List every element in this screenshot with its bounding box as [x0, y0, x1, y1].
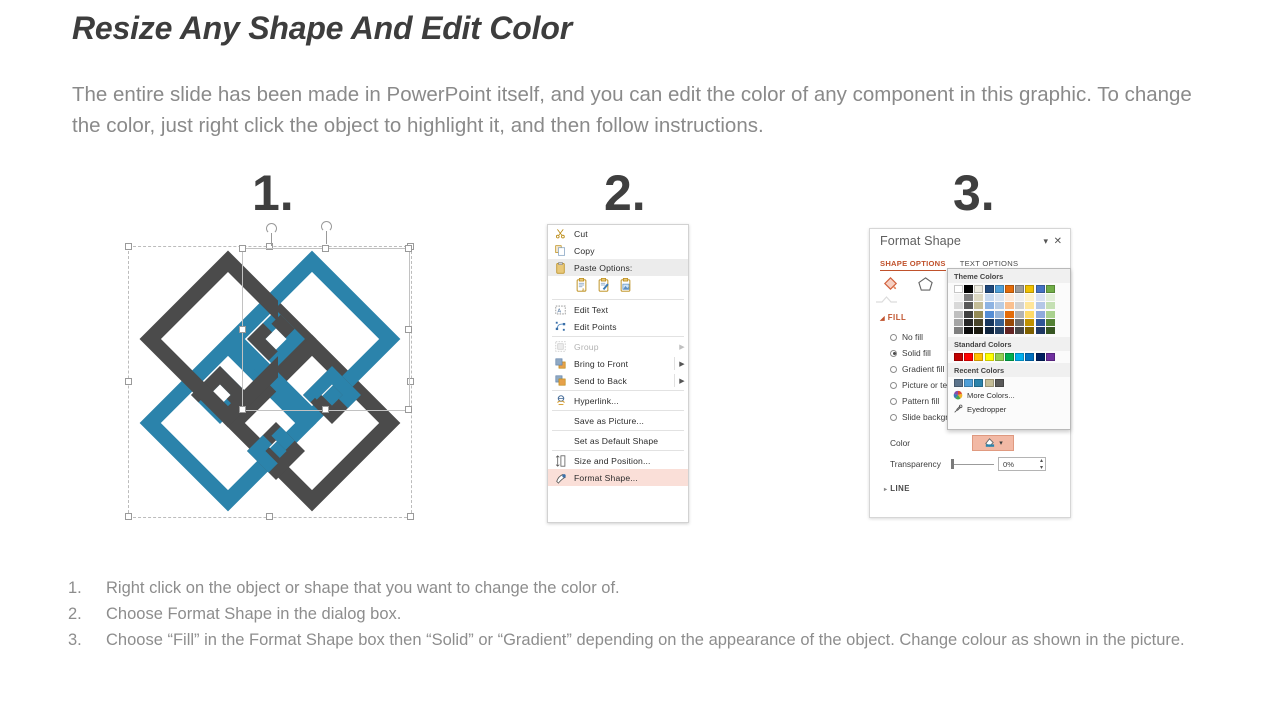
theme-color-tint-swatch[interactable]	[1036, 319, 1045, 326]
inner-handle-n[interactable]	[322, 245, 329, 252]
fill-color-row[interactable]: Color ▾	[890, 435, 1062, 451]
standard-color-swatch[interactable]	[1005, 353, 1014, 361]
group-icon	[551, 339, 570, 354]
transparency-spinner-arrows[interactable]: ▴ ▾	[1040, 458, 1043, 472]
instruction-text: Choose “Fill” in the Format Shape box th…	[106, 627, 1268, 653]
menu-vertical-separator-1	[674, 357, 675, 370]
step-number-1: 1.	[252, 168, 294, 218]
menu-item-cut[interactable]: Cut	[548, 225, 688, 242]
radio-dot-solid-fill	[890, 350, 897, 357]
theme-color-column-8[interactable]	[1025, 285, 1034, 334]
radio-dot-pattern-fill	[890, 398, 897, 405]
theme-color-tint-swatch[interactable]	[1015, 327, 1024, 334]
menu-item-edit-text[interactable]: A Edit Text	[548, 301, 688, 318]
instruction-number: 2.	[68, 601, 106, 627]
recent-colors-row[interactable]	[948, 377, 1070, 389]
theme-color-tint-swatch[interactable]	[1005, 302, 1014, 309]
menu-item-copy-label: Copy	[570, 246, 688, 256]
theme-color-column-9[interactable]	[1036, 285, 1045, 334]
paste-picture-icon[interactable]	[619, 278, 632, 294]
theme-color-tint-swatch[interactable]	[1025, 294, 1034, 301]
fill-expand-glyph: ◢	[880, 316, 885, 322]
step-number-2: 2.	[604, 168, 646, 218]
theme-color-tint-swatch[interactable]	[985, 319, 994, 326]
edit-points-icon	[551, 319, 570, 334]
theme-color-column-4[interactable]	[985, 285, 994, 334]
transparency-spinner[interactable]: 0% ▴ ▾	[998, 457, 1046, 471]
standard-color-swatch[interactable]	[995, 353, 1004, 361]
theme-color-swatch[interactable]	[1025, 285, 1034, 293]
handle-se[interactable]	[407, 513, 414, 520]
fill-section-label: FILL	[888, 313, 906, 322]
theme-color-tint-swatch[interactable]	[1005, 319, 1014, 326]
theme-color-tint-swatch[interactable]	[995, 294, 1004, 301]
paste-use-destination-theme-icon[interactable]	[597, 278, 610, 294]
more-colors-item[interactable]: More Colors...	[948, 389, 1070, 403]
theme-color-tint-swatch[interactable]	[1015, 311, 1024, 318]
theme-color-tint-swatch[interactable]	[995, 302, 1004, 309]
theme-color-column-10[interactable]	[1046, 285, 1055, 334]
instruction-number: 3.	[68, 627, 106, 653]
theme-colors-grid[interactable]	[948, 283, 1070, 334]
theme-colors-header: Theme Colors	[948, 269, 1070, 283]
bring-to-front-icon	[551, 356, 570, 371]
inner-handle-sw[interactable]	[239, 406, 246, 413]
handle-w[interactable]	[125, 378, 132, 385]
theme-color-tint-swatch[interactable]	[985, 311, 994, 318]
inner-handle-w[interactable]	[239, 326, 246, 333]
standard-color-swatch[interactable]	[985, 353, 994, 361]
transparency-row[interactable]: Transparency 0% ▴ ▾	[890, 457, 1068, 471]
standard-color-swatch[interactable]	[954, 353, 963, 361]
menu-separator-6	[552, 450, 684, 451]
theme-color-tint-swatch[interactable]	[985, 294, 994, 301]
size-position-icon	[551, 453, 570, 468]
eyedropper-icon	[953, 404, 963, 416]
fill-tab-indicator	[876, 295, 897, 302]
menu-item-hyperlink-label: Hyperlink...	[570, 396, 688, 406]
theme-color-tint-swatch[interactable]	[954, 319, 963, 326]
rotation-handle-outer[interactable]	[266, 223, 277, 234]
instruction-text: Right click on the object or shape that …	[106, 575, 1268, 601]
theme-color-tint-swatch[interactable]	[1005, 311, 1014, 318]
instruction-item: 1. Right click on the object or shape th…	[68, 575, 1268, 601]
menu-item-copy[interactable]: Copy	[548, 242, 688, 259]
theme-color-tint-swatch[interactable]	[1005, 294, 1014, 301]
menu-item-paste-options[interactable]: Paste Options:	[548, 259, 688, 276]
theme-color-swatch[interactable]	[1015, 285, 1024, 293]
page-subtitle: The entire slide has been made in PowerP…	[72, 79, 1217, 141]
theme-color-tint-swatch[interactable]	[1015, 319, 1024, 326]
standard-colors-row[interactable]	[948, 351, 1070, 363]
recent-color-swatch[interactable]	[954, 379, 963, 387]
transparency-value: 0%	[1003, 460, 1014, 469]
theme-color-tint-swatch[interactable]	[974, 294, 983, 301]
theme-color-column-2[interactable]	[964, 285, 973, 334]
paste-options-row[interactable]: a	[548, 276, 688, 298]
inner-handle-e[interactable]	[405, 326, 412, 333]
theme-color-tint-swatch[interactable]	[1005, 327, 1014, 334]
tab-shape-options[interactable]: SHAPE OPTIONS	[880, 259, 946, 271]
theme-color-swatch[interactable]	[995, 285, 1004, 293]
radio-label-no-fill: No fill	[902, 332, 923, 342]
theme-color-swatch[interactable]	[985, 285, 994, 293]
theme-color-column-6[interactable]	[1005, 285, 1014, 334]
step-number-3: 3.	[953, 168, 995, 218]
theme-color-tint-swatch[interactable]	[964, 311, 973, 318]
menu-item-size-and-position-label: Size and Position...	[570, 456, 688, 466]
theme-color-column-3[interactable]	[974, 285, 983, 334]
theme-color-tint-swatch[interactable]	[1025, 311, 1034, 318]
menu-separator-1	[552, 299, 684, 300]
theme-color-tint-swatch[interactable]	[1046, 319, 1055, 326]
theme-color-tint-swatch[interactable]	[1036, 311, 1045, 318]
standard-colors-header: Standard Colors	[948, 337, 1070, 351]
theme-color-tint-swatch[interactable]	[954, 311, 963, 318]
transparency-slider[interactable]	[950, 458, 998, 470]
menu-item-group[interactable]: Group ▶	[548, 338, 688, 355]
inner-handle-ne[interactable]	[405, 245, 412, 252]
format-shape-title: Format Shape	[880, 234, 961, 248]
rotation-handle-inner[interactable]	[321, 221, 332, 232]
rotation-stem-outer	[271, 233, 272, 246]
standard-color-swatch[interactable]	[964, 353, 973, 361]
recent-color-swatch[interactable]	[964, 379, 973, 387]
theme-color-tint-swatch[interactable]	[1046, 327, 1055, 334]
radio-label-pattern-fill: Pattern fill	[902, 396, 939, 406]
inner-handle-nw[interactable]	[239, 245, 246, 252]
theme-color-swatch[interactable]	[1005, 285, 1014, 293]
theme-color-tint-swatch[interactable]	[954, 294, 963, 301]
eyedropper-label: Eyedropper	[967, 405, 1006, 414]
hyperlink-icon	[551, 393, 570, 408]
menu-item-set-as-default-shape-label: Set as Default Shape	[570, 436, 688, 446]
menu-separator-2	[552, 336, 684, 337]
svg-text:A: A	[557, 308, 561, 314]
instruction-item: 2. Choose Format Shape in the dialog box…	[68, 601, 1268, 627]
chevron-down-icon[interactable]: ▾	[1043, 236, 1048, 247]
transparency-slider-thumb[interactable]	[951, 459, 954, 469]
standard-color-swatch[interactable]	[1036, 353, 1045, 361]
menu-item-group-label: Group	[570, 342, 676, 352]
menu-item-paste-options-label: Paste Options:	[570, 263, 688, 273]
theme-color-tint-swatch[interactable]	[974, 302, 983, 309]
more-colors-label: More Colors...	[967, 391, 1015, 400]
menu-item-size-and-position[interactable]: Size and Position...	[548, 452, 688, 469]
menu-item-set-as-default-shape[interactable]: Set as Default Shape	[548, 432, 688, 449]
theme-color-tint-swatch[interactable]	[964, 319, 973, 326]
menu-item-format-shape[interactable]: Format Shape...	[548, 469, 688, 486]
menu-separator-4	[552, 410, 684, 411]
menu-item-edit-points[interactable]: Edit Points	[548, 318, 688, 335]
theme-color-column-5[interactable]	[995, 285, 1004, 334]
recent-color-swatch[interactable]	[995, 379, 1004, 387]
inner-selection-box[interactable]	[242, 248, 410, 411]
radio-dot-gradient-fill	[890, 366, 897, 373]
instruction-text: Choose Format Shape in the dialog box.	[106, 601, 1268, 627]
instructions-list: 1. Right click on the object or shape th…	[68, 575, 1268, 653]
theme-color-tint-swatch[interactable]	[964, 327, 973, 334]
theme-color-tint-swatch[interactable]	[1025, 302, 1034, 309]
radio-dot-picture-fill	[890, 382, 897, 389]
menu-item-bring-to-front-label: Bring to Front	[570, 359, 676, 369]
submenu-arrow-bring-to-front[interactable]: ▶	[676, 360, 688, 368]
inner-handle-s[interactable]	[322, 406, 329, 413]
theme-color-tint-swatch[interactable]	[985, 302, 994, 309]
submenu-arrow-send-to-back[interactable]: ▶	[676, 377, 688, 385]
theme-color-tint-swatch[interactable]	[1046, 294, 1055, 301]
close-icon[interactable]: ✕	[1054, 236, 1062, 247]
edit-text-icon: A	[551, 302, 570, 317]
effects-pentagon-icon[interactable]	[917, 276, 934, 294]
transparency-label: Transparency	[890, 459, 950, 469]
radio-label-gradient-fill: Gradient fill	[902, 364, 944, 374]
menu-separator-3	[552, 390, 684, 391]
theme-color-swatch[interactable]	[1046, 285, 1055, 293]
theme-color-tint-swatch[interactable]	[1036, 327, 1045, 334]
radio-label-solid-fill: Solid fill	[902, 348, 931, 358]
theme-color-tint-swatch[interactable]	[954, 302, 963, 309]
transparency-slider-track	[954, 464, 994, 465]
theme-color-tint-swatch[interactable]	[995, 319, 1004, 326]
clipboard-icon	[551, 260, 570, 275]
send-to-back-icon	[551, 373, 570, 388]
fill-and-line-icon[interactable]	[882, 275, 899, 294]
instruction-item: 3. Choose “Fill” in the Format Shape box…	[68, 627, 1268, 653]
handle-sw[interactable]	[125, 513, 132, 520]
menu-item-send-to-back-label: Send to Back	[570, 376, 676, 386]
theme-color-tint-swatch[interactable]	[964, 294, 973, 301]
recent-color-swatch[interactable]	[985, 379, 994, 387]
theme-color-tint-swatch[interactable]	[964, 302, 973, 309]
theme-color-swatch[interactable]	[954, 285, 963, 293]
format-shape-icon	[551, 470, 570, 485]
handle-nw[interactable]	[125, 243, 132, 250]
context-menu[interactable]: Cut Copy Paste Options: a	[547, 224, 689, 523]
theme-color-tint-swatch[interactable]	[1036, 294, 1045, 301]
menu-item-edit-text-label: Edit Text	[570, 305, 688, 315]
menu-item-send-to-back[interactable]: Send to Back ▶	[548, 372, 688, 389]
menu-item-save-as-picture[interactable]: Save as Picture...	[548, 412, 688, 429]
standard-color-swatch[interactable]	[974, 353, 983, 361]
page-title: Resize Any Shape And Edit Color	[72, 10, 572, 47]
paste-keep-source-formatting-icon[interactable]: a	[575, 278, 588, 294]
theme-color-tint-swatch[interactable]	[1015, 302, 1024, 309]
fill-section-header[interactable]: ◢ FILL	[880, 313, 906, 322]
menu-vertical-separator-2	[674, 374, 675, 387]
menu-item-bring-to-front[interactable]: Bring to Front ▶	[548, 355, 688, 372]
standard-color-swatch[interactable]	[1025, 353, 1034, 361]
radio-dot-slide-background-fill	[890, 414, 897, 421]
inner-handle-se[interactable]	[405, 406, 412, 413]
spinner-up-glyph[interactable]: ▴	[1040, 458, 1043, 465]
theme-color-tint-swatch[interactable]	[995, 311, 1004, 318]
submenu-arrow-group: ▶	[676, 343, 688, 351]
standard-color-swatch[interactable]	[1015, 353, 1024, 361]
theme-color-tint-swatch[interactable]	[954, 327, 963, 334]
theme-color-tint-swatch[interactable]	[1046, 311, 1055, 318]
theme-color-tint-swatch[interactable]	[974, 327, 983, 334]
instruction-number: 1.	[68, 575, 106, 601]
line-section-header[interactable]: ▸ LINE	[884, 484, 910, 493]
theme-color-swatch[interactable]	[964, 285, 973, 293]
theme-color-tint-swatch[interactable]	[1046, 302, 1055, 309]
theme-color-tint-swatch[interactable]	[1036, 302, 1045, 309]
menu-item-hyperlink[interactable]: Hyperlink...	[548, 392, 688, 409]
fill-color-label: Color	[890, 438, 972, 448]
recent-color-swatch[interactable]	[974, 379, 983, 387]
menu-item-cut-label: Cut	[570, 229, 688, 239]
theme-color-tint-swatch[interactable]	[1025, 319, 1034, 326]
radio-dot-no-fill	[890, 334, 897, 341]
line-section-label: LINE	[890, 484, 910, 493]
theme-color-tint-swatch[interactable]	[1015, 294, 1024, 301]
copy-icon	[551, 243, 570, 258]
spinner-down-glyph[interactable]: ▾	[1040, 465, 1043, 472]
slide-root: Resize Any Shape And Edit Color The enti…	[0, 0, 1280, 720]
line-collapse-glyph: ▸	[884, 487, 888, 493]
handle-s[interactable]	[266, 513, 273, 520]
theme-color-tint-swatch[interactable]	[1025, 327, 1034, 334]
theme-color-tint-swatch[interactable]	[995, 327, 1004, 334]
menu-item-edit-points-label: Edit Points	[570, 322, 688, 332]
theme-color-column-7[interactable]	[1015, 285, 1024, 334]
menu-item-format-shape-label: Format Shape...	[570, 473, 688, 483]
fill-color-button[interactable]: ▾	[972, 435, 1014, 451]
fill-color-dropdown-glyph[interactable]: ▾	[999, 439, 1003, 447]
theme-color-tint-swatch[interactable]	[974, 319, 983, 326]
scissors-icon	[551, 226, 570, 241]
color-picker-dropdown[interactable]: Theme Colors Standard Colors Recent Colo…	[947, 268, 1071, 430]
fill-bucket-icon	[983, 437, 996, 449]
color-wheel-icon	[953, 390, 963, 402]
menu-item-save-as-picture-label: Save as Picture...	[570, 416, 688, 426]
theme-color-swatch[interactable]	[1036, 285, 1045, 293]
theme-color-column-1[interactable]	[954, 285, 963, 334]
theme-color-swatch[interactable]	[974, 285, 983, 293]
recent-colors-header: Recent Colors	[948, 363, 1070, 377]
shape-graphic-panel	[126, 236, 414, 522]
theme-color-tint-swatch[interactable]	[985, 327, 994, 334]
standard-color-swatch[interactable]	[1046, 353, 1055, 361]
menu-separator-5	[552, 430, 684, 431]
rotation-stem-inner	[326, 231, 327, 244]
theme-color-tint-swatch[interactable]	[974, 311, 983, 318]
eyedropper-item[interactable]: Eyedropper	[948, 403, 1070, 417]
